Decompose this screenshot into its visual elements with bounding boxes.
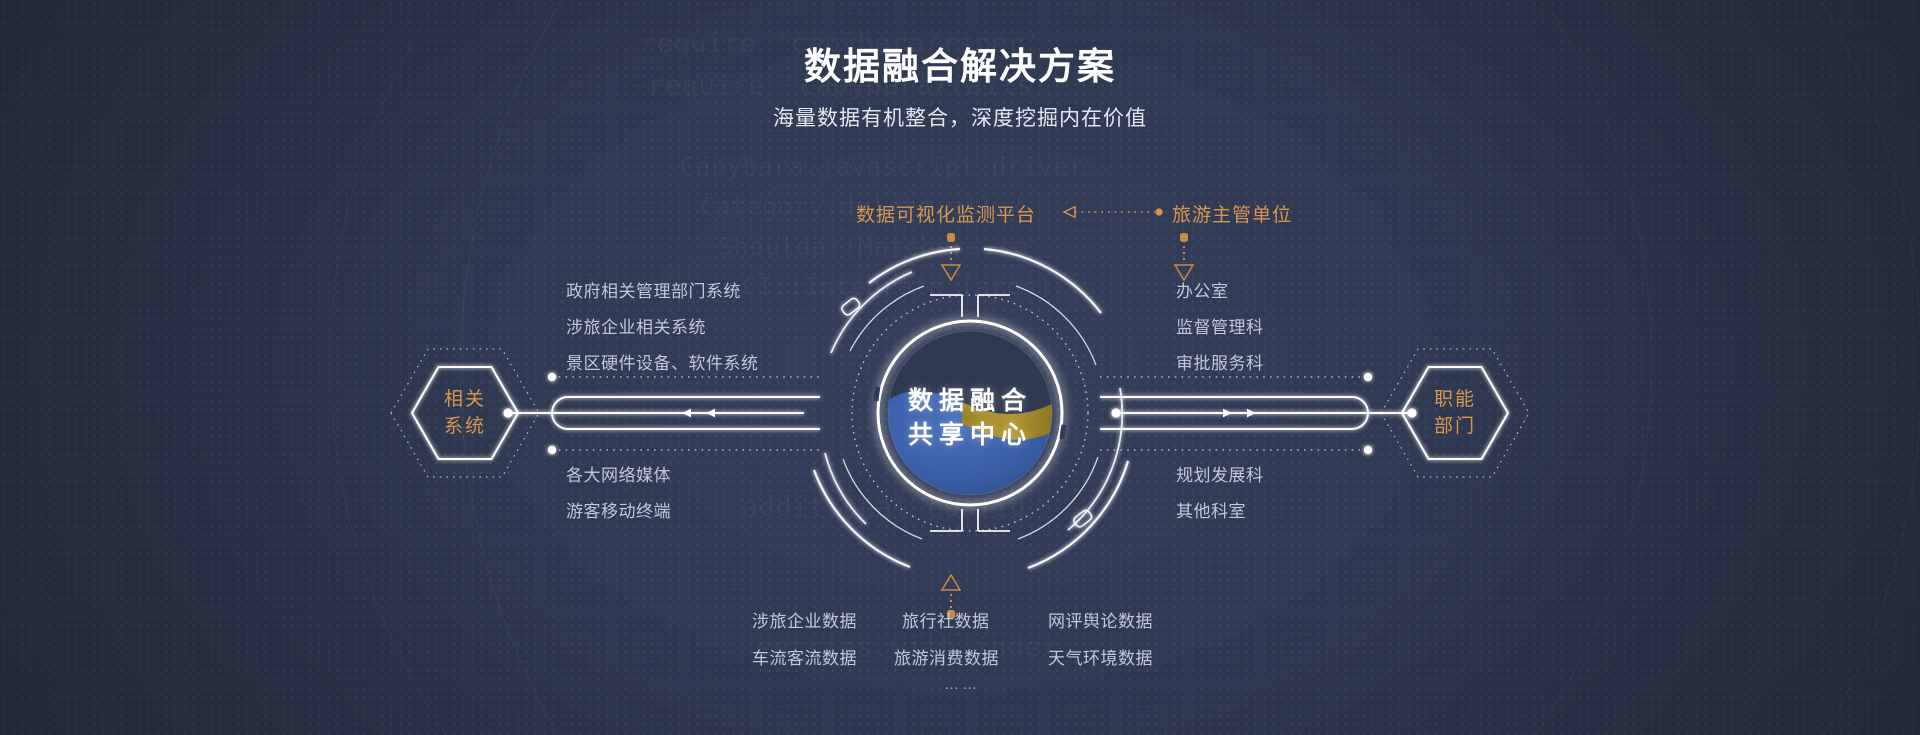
bottom-col1-item-0: 涉旅企业数据 <box>752 607 857 632</box>
left-lower-item-0: 各大网络媒体 <box>566 461 671 486</box>
left-node-label: 相关 系统 <box>390 344 540 482</box>
bottom-col1-item-1: 车流客流数据 <box>752 644 857 669</box>
right-node-line2: 部门 <box>1434 413 1476 440</box>
left-node-line1: 相关 <box>444 386 486 413</box>
right-lower-item-0: 规划发展科 <box>1176 461 1264 486</box>
right-lower-item-1: 其他科室 <box>1176 497 1246 522</box>
left-node-line2: 系统 <box>444 413 486 440</box>
left-upper-item-2: 景区硬件设备、软件系统 <box>566 349 759 374</box>
hub-label-line2: 共享中心 <box>908 418 1032 452</box>
right-upper-item-0: 办公室 <box>1176 277 1229 302</box>
bottom-ellipsis: …… <box>944 676 980 693</box>
bottom-col3-item-0: 网评舆论数据 <box>1048 607 1153 632</box>
top-label-monitoring-platform[interactable]: 数据可视化监测平台 <box>856 200 1036 227</box>
bottom-col3-item-1: 天气环境数据 <box>1048 644 1153 669</box>
right-upper-item-1: 监督管理科 <box>1176 313 1264 338</box>
left-upper-item-0: 政府相关管理部门系统 <box>566 277 741 302</box>
hub-label-line1: 数据融合 <box>908 384 1032 418</box>
poster-canvas: require 'capybara/rspec' require 'capyba… <box>0 0 1920 735</box>
left-upper-item-1: 涉旅企业相关系统 <box>566 313 706 338</box>
top-label-tourism-authority[interactable]: 旅游主管单位 <box>1172 200 1292 227</box>
right-node-label: 职能 部门 <box>1380 344 1530 482</box>
bottom-col2-item-0: 旅行社数据 <box>902 607 990 632</box>
bottom-col2-item-1: 旅游消费数据 <box>894 644 999 669</box>
right-upper-item-2: 审批服务科 <box>1176 349 1264 374</box>
data-fusion-hub: 数据融合 共享中心 <box>780 228 1160 608</box>
page-subtitle: 海量数据有机整合，深度挖掘内在价值 <box>0 102 1920 132</box>
page-title: 数据融合解决方案 <box>0 36 1920 90</box>
left-lower-item-1: 游客移动终端 <box>566 497 671 522</box>
right-node-line1: 职能 <box>1434 386 1476 413</box>
